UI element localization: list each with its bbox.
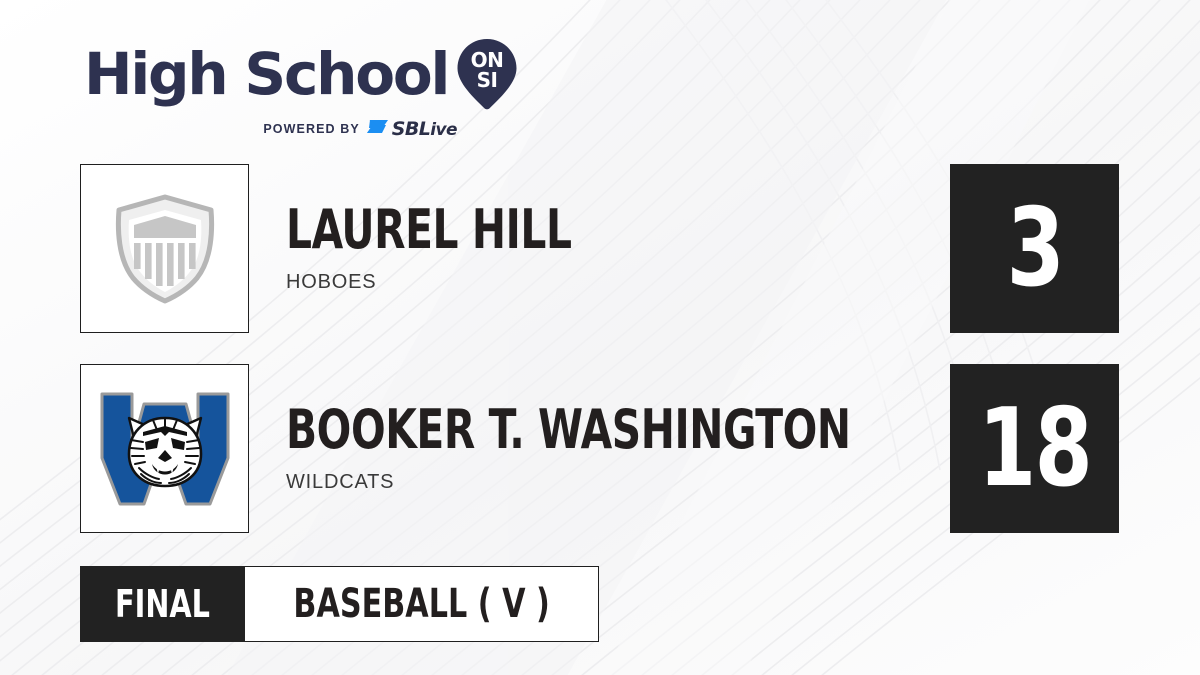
team-score-box: 18 (950, 364, 1119, 533)
team-text-block: LAUREL HILL HOBOES (286, 164, 626, 333)
sblive-bolt-icon (367, 120, 389, 138)
status-state-label: FINAL (115, 582, 210, 626)
on-si-pin-icon: ON SI (456, 38, 518, 110)
status-badge: FINAL (80, 566, 245, 642)
team-mascot: WILDCATS (286, 471, 958, 494)
team-score: 18 (978, 395, 1091, 503)
brand-title: High School (84, 45, 448, 103)
team-name: BOOKER T. WASHINGTON (286, 403, 851, 457)
team-logo-box (80, 364, 249, 533)
shield-placeholder-icon (113, 193, 217, 305)
sport-label-box: BASEBALL ( V ) (245, 566, 599, 642)
team-mascot: HOBOES (286, 271, 626, 294)
team-logo-box (80, 164, 249, 333)
powered-by-block: POWERED BY SBLive (202, 118, 518, 140)
svg-text:SI: SI (477, 68, 498, 92)
sblive-logo: SBLive (367, 118, 457, 140)
team-text-block: BOOKER T. WASHINGTON WILDCATS (286, 364, 958, 533)
brand-logo: High School ON SI POWERED BY SBLive (84, 38, 518, 140)
team-score-box: 3 (950, 164, 1119, 333)
powered-by-label: POWERED BY (263, 122, 359, 136)
wildcat-w-logo-icon (98, 386, 232, 512)
team-name: LAUREL HILL (286, 203, 572, 257)
team-score: 3 (1006, 195, 1062, 303)
sport-label: BASEBALL ( V ) (293, 581, 549, 627)
game-status-bar: FINAL BASEBALL ( V ) (80, 566, 599, 642)
sblive-wordmark: SBLive (392, 118, 457, 140)
